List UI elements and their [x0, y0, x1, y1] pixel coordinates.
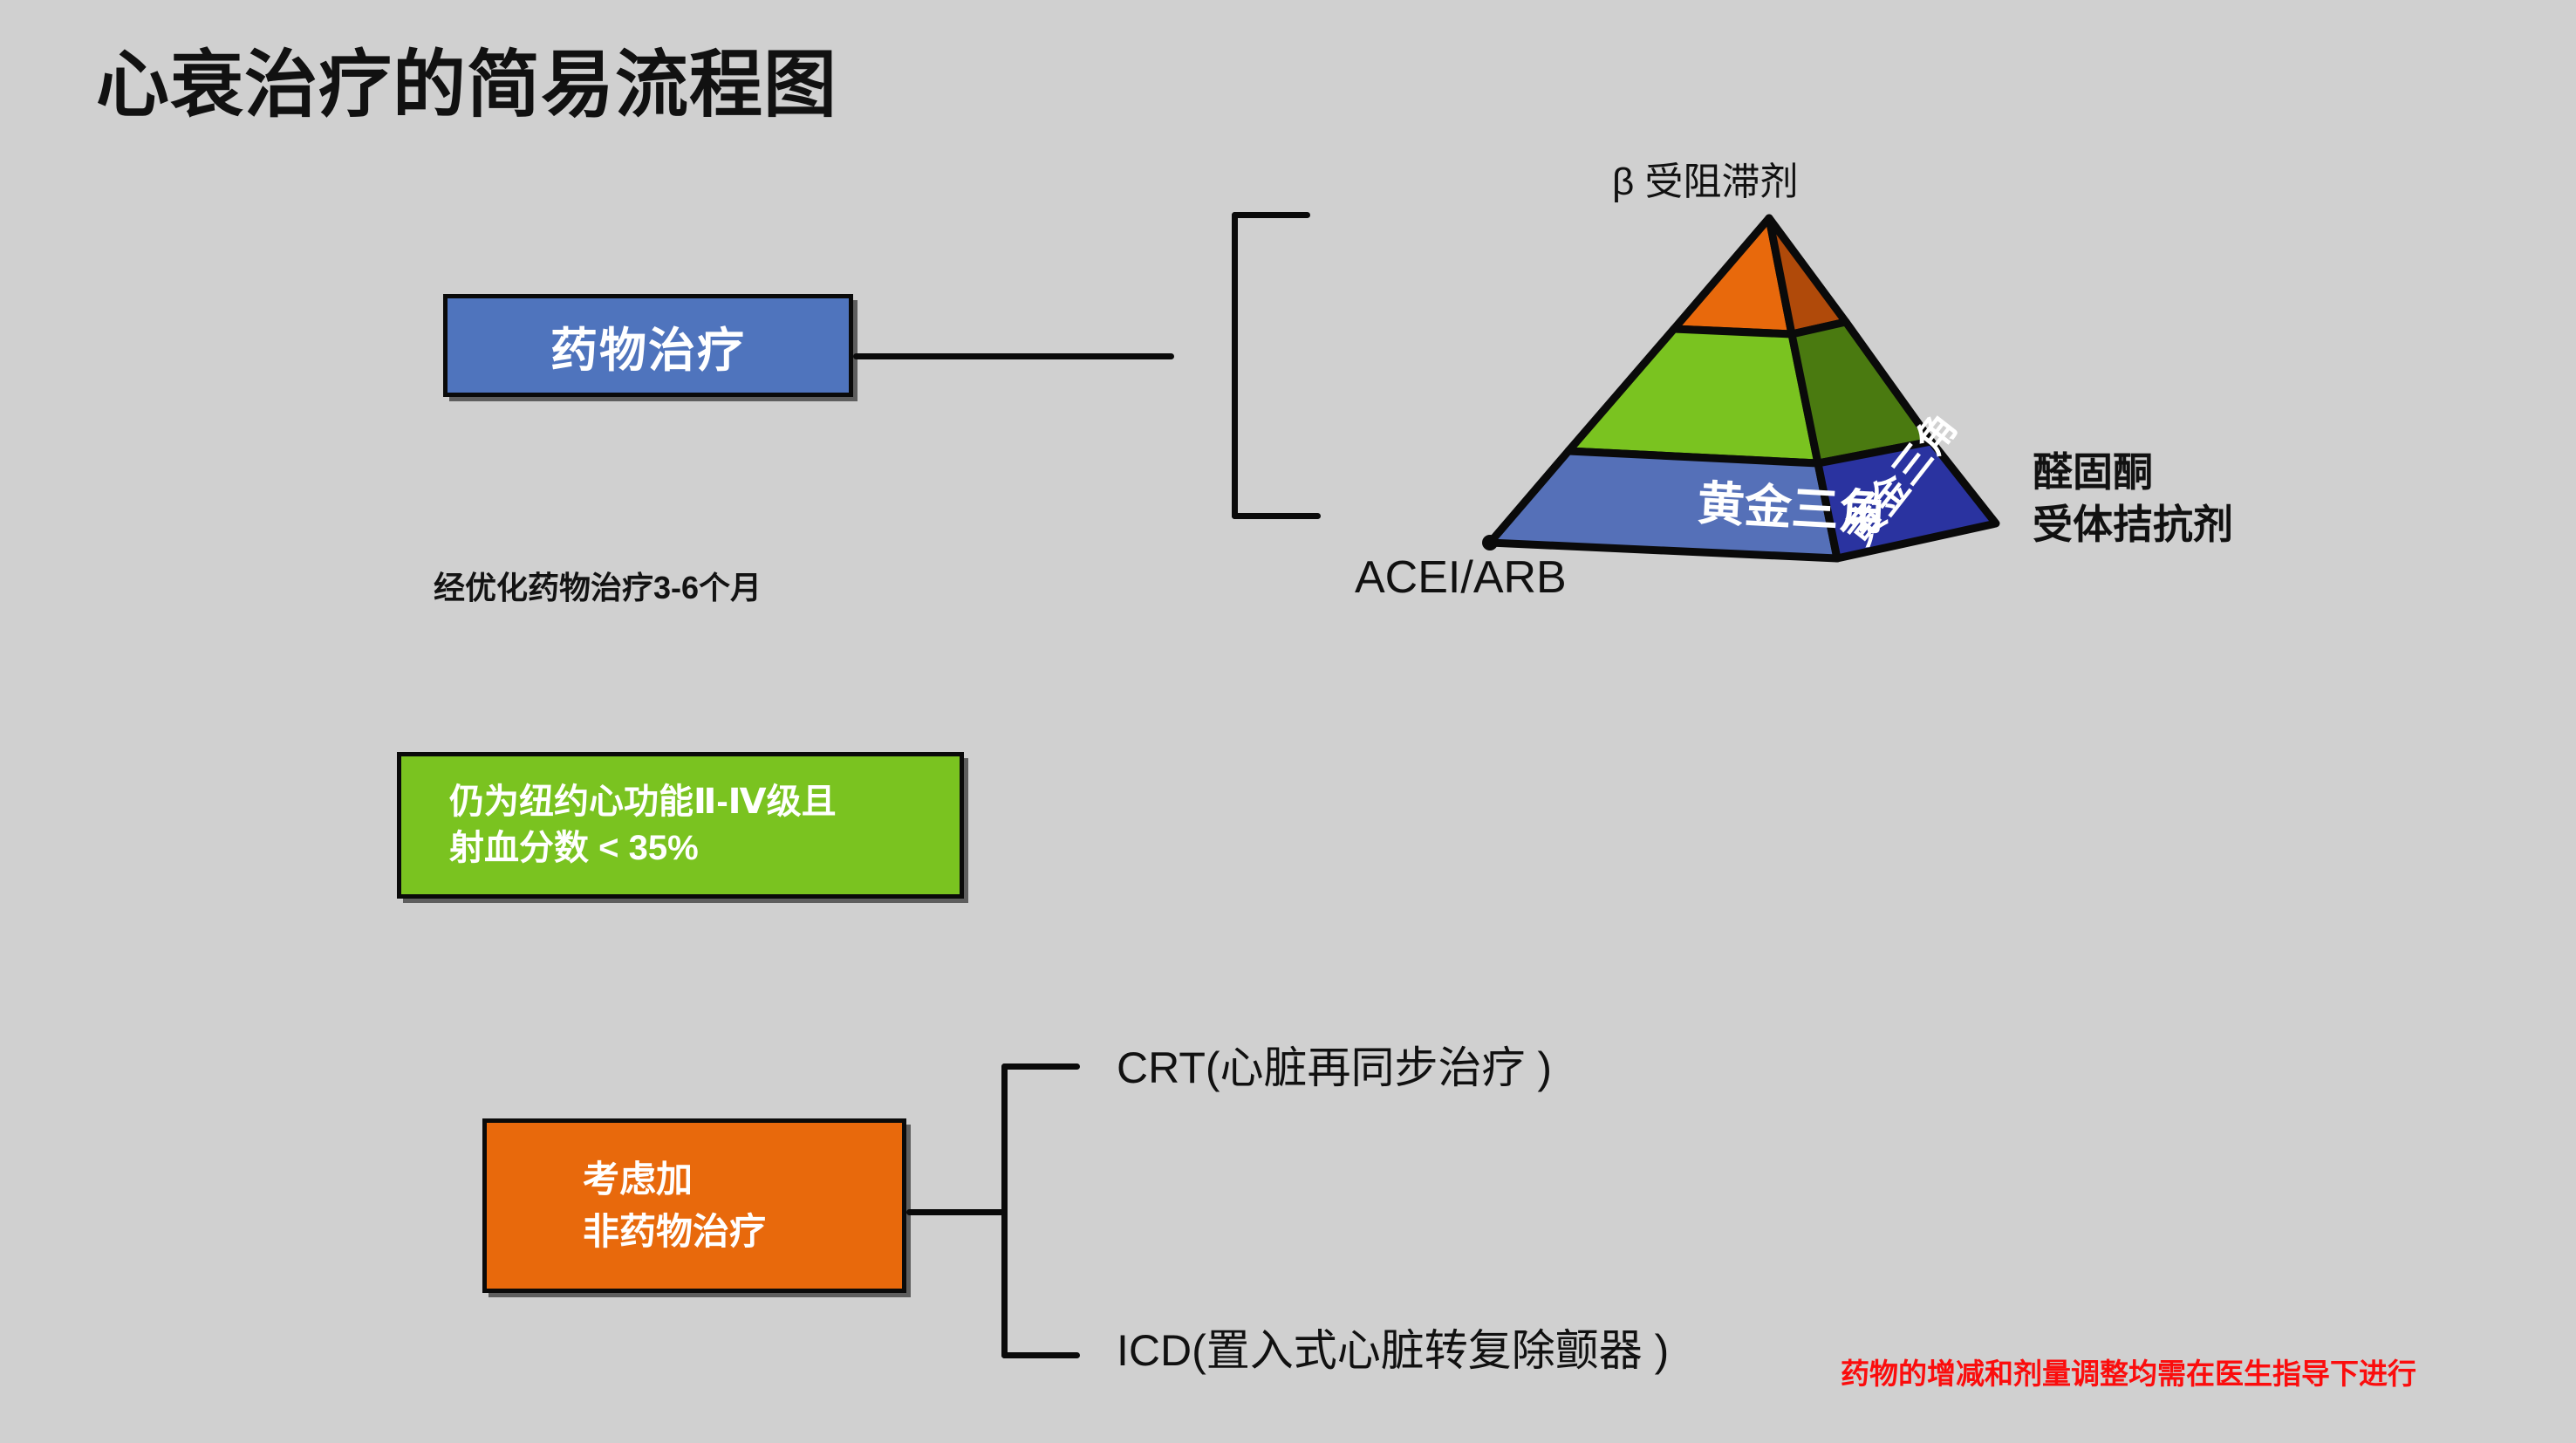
pyramid-left-tier-middle [1568, 329, 1818, 463]
slide-canvas: 心衰治疗的简易流程图 药物治疗 经优化药物治疗3-6个月 仍为纽约心功能Ⅱ-Ⅳ级… [0, 0, 2576, 1443]
beta-blocker-label: β 受阻滞剂 [1612, 150, 1799, 206]
crt-option-label: CRT(心脏再同步治疗 ) [1117, 1033, 1552, 1096]
bracket-nondrug-bottom-stub [1001, 1352, 1080, 1358]
bracket-drug-vertical [1232, 212, 1238, 519]
bracket-nondrug-top-stub [1001, 1063, 1080, 1070]
drug-therapy-label: 药物治疗 [550, 311, 746, 380]
bracket-drug-top-stub [1232, 212, 1310, 218]
doctor-guidance-warning: 药物的增减和剂量调整均需在医生指导下进行 [1841, 1351, 2416, 1392]
nondrug-line-2: 非药物治疗 [583, 1206, 766, 1258]
bracket-nondrug-vertical [1001, 1063, 1008, 1358]
connector-nondrug-to-bracket [906, 1209, 1004, 1215]
optimized-therapy-caption: 经优化药物治疗3-6个月 [434, 563, 762, 608]
connector-drug-to-bracket [853, 353, 1174, 359]
pyramid-left-corner-dot [1482, 535, 1498, 551]
aldosterone-antagonist-label: 醛固酮 受体拮抗剂 [2033, 447, 2233, 551]
nondrug-line-1: 考虑加 [583, 1153, 766, 1206]
nondrug-therapy-box[interactable]: 考虑加 非药物治疗 [482, 1118, 906, 1293]
nyha-line-1: 仍为纽约心功能Ⅱ-Ⅳ级且 [449, 779, 837, 825]
bracket-drug-bottom-stub [1232, 513, 1321, 519]
golden-triangle-pyramid: 黄金三角 黄金三角 [1431, 183, 2059, 585]
nyha-line-2: 射血分数 < 35% [449, 825, 837, 872]
page-title: 心衰治疗的简易流程图 [96, 26, 837, 132]
drug-therapy-box[interactable]: 药物治疗 [443, 294, 853, 397]
icd-option-label: ICD(置入式心脏转复除颤器 ) [1117, 1316, 1669, 1378]
acei-arb-label: ACEI/ARB [1355, 551, 1567, 604]
aldosterone-line-1: 醛固酮 [2033, 447, 2233, 499]
nyha-criteria-box[interactable]: 仍为纽约心功能Ⅱ-Ⅳ级且 射血分数 < 35% [397, 752, 964, 899]
aldosterone-line-2: 受体拮抗剂 [2033, 499, 2233, 551]
